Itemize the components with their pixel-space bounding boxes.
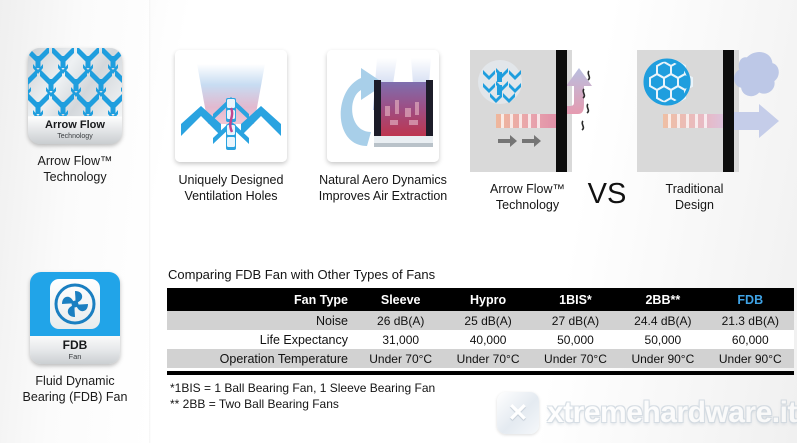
fdb-caption-line1: Fluid Dynamic <box>0 373 150 389</box>
row-label-noise: Noise <box>167 311 357 330</box>
arrow-flow-caption-line1: Arrow Flow™ <box>0 153 150 169</box>
xtremehardware-logo-icon: ✕ <box>497 392 539 434</box>
row-label-life-expectancy: Life Expectancy <box>167 330 357 349</box>
table-header: Fan Type Sleeve Hypro 1BIS* 2BB** FDB <box>167 288 794 311</box>
watermark-text: xtremehardware.it <box>547 396 797 430</box>
column-header-2bb: 2BB** <box>619 288 706 311</box>
cell-life-1bis: 50,000 <box>532 330 619 349</box>
cell-life-sleeve: 31,000 <box>357 330 444 349</box>
fdb-badge-title: FDB <box>63 339 88 351</box>
sidebar: Arrow Flow Technology Arrow Flow™ Techno… <box>0 0 150 443</box>
feature-1-caption-line1: Uniquely Designed <box>166 172 296 188</box>
table-title: Comparing FDB Fan with Other Types of Fa… <box>168 267 435 282</box>
fdb-badge-label: FDB Fan <box>30 336 120 364</box>
arrow-flow-caption-line2: Technology <box>0 169 150 185</box>
arrow-flow-badge-label: Arrow Flow Technology <box>28 116 122 144</box>
comparison-arrow-flow-panel[interactable]: Arrow Flow™ Technology <box>470 50 585 213</box>
feature-2-caption-line2: Improves Air Extraction <box>308 188 458 204</box>
table-row-operation-temperature: Operation Temperature Under 70°C Under 7… <box>167 349 794 368</box>
aero-dynamics-image <box>327 50 439 162</box>
cell-noise-hypro: 25 dB(A) <box>444 311 531 330</box>
row-label-operation-temperature: Operation Temperature <box>167 349 357 368</box>
feature-aero-dynamics[interactable]: Natural Aero Dynamics Improves Air Extra… <box>308 50 458 204</box>
feature-ventilation-holes[interactable]: Uniquely Designed Ventilation Holes <box>166 50 296 204</box>
feature-1-caption: Uniquely Designed Ventilation Holes <box>166 172 296 204</box>
comparison-right-caption-line2: Design <box>637 197 752 213</box>
cell-noise-1bis: 27 dB(A) <box>532 311 619 330</box>
arrow-flow-pattern-icon <box>28 48 122 116</box>
arrow-flow-badge-subtitle: Technology <box>57 132 92 141</box>
feature-2-caption: Natural Aero Dynamics Improves Air Extra… <box>308 172 458 204</box>
cell-noise-sleeve: 26 dB(A) <box>357 311 444 330</box>
arrow-flow-badge-title: Arrow Flow <box>45 120 105 131</box>
cell-temp-2bb: Under 90°C <box>619 349 706 368</box>
cell-temp-hypro: Under 70°C <box>444 349 531 368</box>
fdb-badge-card[interactable]: FDB Fan <box>30 272 120 364</box>
table-body: Noise 26 dB(A) 25 dB(A) 27 dB(A) 24.4 dB… <box>167 311 794 368</box>
comparison-left-caption-line2: Technology <box>470 197 585 213</box>
vs-label: VS <box>583 178 631 211</box>
column-header-fdb: FDB <box>707 288 794 311</box>
footnote-1bis: *1BIS = 1 Ball Bearing Fan, 1 Sleeve Bea… <box>170 380 435 396</box>
comparison-left-caption: Arrow Flow™ Technology <box>470 181 585 213</box>
feature-1-caption-line2: Ventilation Holes <box>166 188 296 204</box>
fdb-caption-line2: Bearing (FDB) Fan <box>0 389 150 405</box>
arrow-flow-caption: Arrow Flow™ Technology <box>0 153 150 185</box>
fdb-badge-block[interactable]: FDB Fan Fluid Dynamic Bearing (FDB) Fan <box>0 272 150 405</box>
watermark: ✕ xtremehardware.it <box>497 392 797 434</box>
fdb-badge-subtitle: Fan <box>69 352 82 361</box>
arrow-flow-badge-block[interactable]: Arrow Flow Technology Arrow Flow™ Techno… <box>0 48 150 185</box>
cell-temp-fdb: Under 90°C <box>707 349 794 368</box>
table-row-life-expectancy: Life Expectancy 31,000 40,000 50,000 50,… <box>167 330 794 349</box>
ventilation-holes-image <box>175 50 287 162</box>
cell-temp-sleeve: Under 70°C <box>357 349 444 368</box>
footnote-2bb: ** 2BB = Two Ball Bearing Fans <box>170 396 435 412</box>
column-header-fan-type: Fan Type <box>167 288 357 311</box>
column-header-hypro: Hypro <box>444 288 531 311</box>
fdb-badge-art <box>30 272 120 336</box>
comparison-left-caption-line1: Arrow Flow™ <box>470 181 585 197</box>
cell-life-hypro: 40,000 <box>444 330 531 349</box>
comparison-right-caption-line1: Traditional <box>637 181 752 197</box>
table-bottom-rule <box>167 371 794 375</box>
fdb-caption: Fluid Dynamic Bearing (FDB) Fan <box>0 373 150 405</box>
feature-2-caption-line1: Natural Aero Dynamics <box>308 172 458 188</box>
traditional-airflow-diagram <box>637 50 762 172</box>
cell-temp-1bis: Under 70°C <box>532 349 619 368</box>
fan-impeller-icon <box>50 279 100 329</box>
table-header-row: Fan Type Sleeve Hypro 1BIS* 2BB** FDB <box>167 288 794 311</box>
table-row-noise: Noise 26 dB(A) 25 dB(A) 27 dB(A) 24.4 dB… <box>167 311 794 330</box>
cell-noise-fdb: 21.3 dB(A) <box>707 311 794 330</box>
cell-life-fdb: 60,000 <box>707 330 794 349</box>
table-footnotes: *1BIS = 1 Ball Bearing Fan, 1 Sleeve Bea… <box>170 380 435 412</box>
comparison-traditional-panel[interactable]: Traditional Design <box>637 50 752 213</box>
arrow-flow-badge-card[interactable]: Arrow Flow Technology <box>28 48 122 144</box>
column-header-1bis: 1BIS* <box>532 288 619 311</box>
comparison-right-caption: Traditional Design <box>637 181 752 213</box>
cell-noise-2bb: 24.4 dB(A) <box>619 311 706 330</box>
fan-comparison-table: Fan Type Sleeve Hypro 1BIS* 2BB** FDB No… <box>167 288 794 368</box>
arrow-flow-airflow-diagram <box>470 50 595 172</box>
cell-life-2bb: 50,000 <box>619 330 706 349</box>
column-header-sleeve: Sleeve <box>357 288 444 311</box>
